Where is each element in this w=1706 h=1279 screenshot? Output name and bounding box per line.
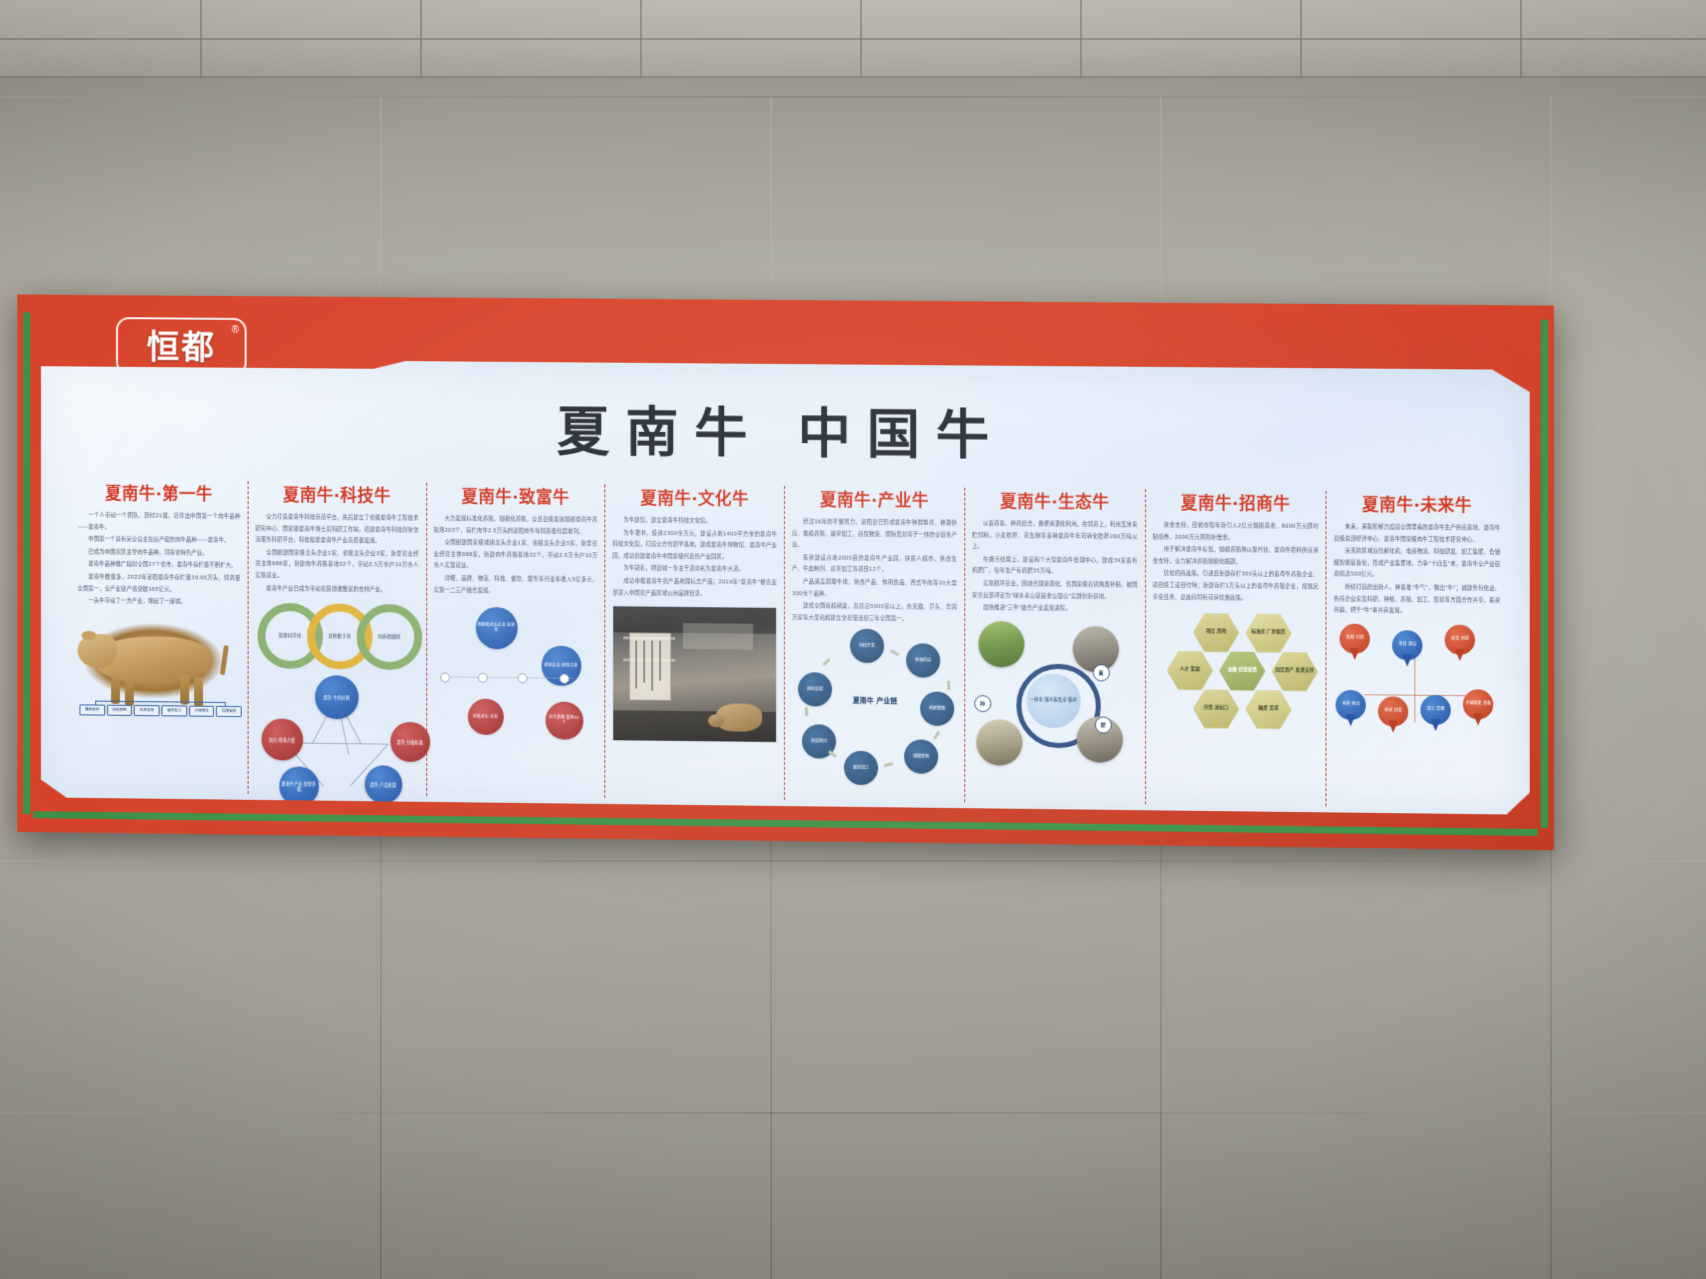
flow-node: 省级龙头 企业 xyxy=(467,699,503,735)
eco-photo-grass xyxy=(978,621,1024,668)
pin-marker: 招商 引资 xyxy=(1340,623,1370,661)
hex-cell: 标准化 厂房租赁 xyxy=(1245,613,1291,654)
pin-marker: 加工 集聚 xyxy=(1421,695,1451,734)
chain-node: 国际贸易 xyxy=(798,673,832,707)
hex-cell: 融资 需求 xyxy=(1245,689,1291,730)
pentagon-node: 加大 研发力度 xyxy=(261,719,303,761)
tag-item: 品牌营销 xyxy=(216,706,241,717)
pentagon-node: 提升 分级标准 xyxy=(390,722,430,762)
pin-marker: 项目 建设 xyxy=(1392,630,1422,669)
flow-node: 肉牛养殖 基地32个 xyxy=(545,702,583,740)
hex-cell: 固定资产 投资支持 xyxy=(1271,651,1317,692)
column-body: 全力打造夏南牛科技示范平台，先后建立了省级夏南牛工程技术研究中心、国家级夏南牛博… xyxy=(255,512,418,596)
column-technology-cow: 夏南牛·科技牛 全力打造夏南牛科技示范平台，先后建立了省级夏南牛工程技术研究中心… xyxy=(247,481,425,796)
hex-cell: 人才 奖励 xyxy=(1167,650,1213,691)
chain-node: 种群繁繁 xyxy=(920,692,954,726)
pin-marker: 仓储智能 装备 xyxy=(1463,689,1493,728)
ring-label: 管理科学化 xyxy=(279,633,302,639)
chain-node: 屠宰加工 xyxy=(844,751,878,785)
column-heading: 夏南牛·文化牛 xyxy=(613,485,777,510)
column-body: 资金支持，目前在程年新引入2亿元规模基金、6000万元即时贴债券、2000万元风… xyxy=(1153,520,1319,605)
pentagon-diagram: 提升 牛肉分割 提升 分级标准 提升 产品质量 夏南牛产业 转型升级 加大 研发… xyxy=(255,653,418,796)
ceiling xyxy=(0,0,1706,78)
column-body: 为牛建馆，建立夏南牛科技文化馆。 为牛著书，投资2300余万元，建设占地1400… xyxy=(613,515,777,601)
column-first-cow: 夏南牛·第一牛 一个人带动一个团队，历时21载，培育出中国第一个肉牛品种——夏南… xyxy=(71,480,248,794)
chain-center-label: 夏南牛 产业链 xyxy=(840,697,910,707)
tag-item: 生态牧场 xyxy=(134,705,159,716)
tag-item: 繁殖育种 xyxy=(79,704,104,715)
chain-node: 科研开发 xyxy=(850,629,884,663)
green-accent-left xyxy=(23,312,30,814)
eco-circle-diagram: 一体化 循环畜牧业 循环 畜 肥 种 xyxy=(972,619,1138,781)
column-heading: 夏南牛·生态牛 xyxy=(972,488,1138,514)
bull-photo: 繁殖育种 规模养殖 生态牧场 屠宰加工 冷链物流 品牌营销 xyxy=(77,614,240,719)
tag-item: 屠宰加工 xyxy=(162,705,187,716)
pin-markers-diagram: 招商 引资 项目 建设 研发 创新 xyxy=(1334,623,1501,776)
content-field: 夏南牛 中国牛 夏南牛·第一牛 一个人带动一个团队，历时21载，培育出中国第一个… xyxy=(41,358,1530,815)
column-investment-cow: 夏南牛·招商牛 资金支持，目前在程年新引入2亿元规模基金、6000万元即时贴债券… xyxy=(1145,489,1326,806)
pentagon-node: 提升 产品质量 xyxy=(364,766,402,804)
column-culture-cow: 夏南牛·文化牛 为牛建馆，建立夏南牛科技文化馆。 为牛著书，投资2300余万元，… xyxy=(605,484,784,800)
eco-badge: 种 xyxy=(974,695,991,712)
column-body: 未来，采取阶梯力度适全国里看的夏南牛生产供应基地、夏南牛县级总部经济中心、夏南牛… xyxy=(1334,522,1501,619)
tag-bar: 繁殖育种 规模养殖 生态牧场 屠宰加工 冷链物流 品牌营销 xyxy=(79,704,241,717)
pentagon-node: 提升 牛肉分割 xyxy=(315,675,359,719)
flow-node: 国家级龙头企业 标准化 xyxy=(475,607,517,649)
ring-label: 饲养精细化 xyxy=(378,634,401,640)
pin-marker: 科技 研发 xyxy=(1378,696,1408,735)
exhibition-board: 恒都 ® 夏南牛 中国牛 夏南牛·第一牛 一个人带动一个团队，历时21载，培育出… xyxy=(17,294,1554,850)
column-future-cow: 夏南牛·未来牛 未来，采取阶梯力度适全国里看的夏南牛生产供应基地、夏南牛县级总部… xyxy=(1326,491,1508,809)
pin-marker: 电商 物流 xyxy=(1336,690,1366,729)
hexagon-grid: 项目 用地 标准化 厂房租赁 人才 奖励 金融 优惠政策 固定资产 投资支持 外… xyxy=(1153,610,1319,762)
hex-cell: 金融 优惠政策 xyxy=(1219,651,1265,692)
green-accent-bottom xyxy=(33,811,1538,836)
exhibition-hall-photo xyxy=(613,606,777,744)
page-title: 夏南牛 中国牛 xyxy=(41,386,1530,474)
column-industry-cow: 夏南牛·产业牛 经过16年的不懈努力，泌阳县已形成夏南牛种群繁育、种源供应、规模… xyxy=(784,486,964,802)
columns-container: 夏南牛·第一牛 一个人带动一个团队，历时21载，培育出中国第一个肉牛品种——夏南… xyxy=(71,480,1508,809)
brand-logo-text: 恒都 xyxy=(147,330,216,363)
column-heading: 夏南牛·科技牛 xyxy=(255,481,418,506)
column-heading: 夏南牛·产业牛 xyxy=(792,486,957,511)
column-body: 经过16年的不懈努力，泌阳县已形成夏南牛种群繁育、种源供应、规模养殖、屠宰加工、… xyxy=(792,517,957,626)
pin-marker: 研发 创新 xyxy=(1445,625,1475,664)
room-background: 恒都 ® 夏南牛 中国牛 夏南牛·第一牛 一个人带动一个团队，历时21载，培育出… xyxy=(0,0,1706,1279)
chain-node: 种源供应 xyxy=(906,644,940,678)
column-heading: 夏南牛·未来牛 xyxy=(1334,491,1501,517)
eco-center-label: 一体化 循环畜牧业 循环 xyxy=(1026,673,1080,728)
column-body: 一个人带动一个团队，历时21载，培育出中国第一个肉牛品种——夏南牛。 中国第一个… xyxy=(77,511,240,610)
pentagon-node: 夏南牛产业 转型升级 xyxy=(279,767,319,807)
green-accent-right xyxy=(1541,320,1548,828)
eco-badge: 畜 xyxy=(1093,664,1110,681)
hex-cell: 外贸 进出口 xyxy=(1193,689,1239,730)
hex-cell: 项目 用地 xyxy=(1193,612,1239,653)
column-body: 大力发展标准化养殖、规模化养殖，全县县级发展规模夏南牛养殖场203个，存栏肉牛2… xyxy=(434,514,598,599)
eco-photo-feed xyxy=(976,719,1022,766)
tag-item: 冷链物流 xyxy=(189,705,214,716)
flow-diagram: 国家级龙头企业 标准化 新型农业 经营主体 省级龙头 企业 肉牛养殖 基地32个 xyxy=(434,601,598,752)
column-ecology-cow: 夏南牛·生态牛 以畜养畜、种养结合，粪便资源化利用。在饲养上，利用玉米青贮饲料，… xyxy=(964,488,1145,805)
chain-node: 规模养殖 xyxy=(904,740,938,774)
rings-diagram: 管理科学化 育种数字化 饲养精细化 xyxy=(255,603,418,648)
column-prosperity-cow: 夏南牛·致富牛 大力发展标准化养殖、规模化养殖，全县县级发展规模夏南牛养殖场20… xyxy=(426,483,605,798)
industry-chain-diagram: 夏南牛 产业链 科研开发 种源供应 种群繁繁 规模养殖 屠宰加工 商贸物流 国际… xyxy=(792,629,957,787)
column-heading: 夏南牛·招商牛 xyxy=(1153,489,1319,515)
eco-badge: 肥 xyxy=(1095,716,1112,733)
column-body: 以畜养畜、种养结合，粪便资源化利用。在饲养上，利用玉米青贮饲料，小麦秸秆、花生秧… xyxy=(972,519,1138,617)
ring-label: 育种数字化 xyxy=(328,634,351,640)
registered-mark-icon: ® xyxy=(231,325,238,336)
tag-item: 规模养殖 xyxy=(107,705,132,716)
column-heading: 夏南牛·致富牛 xyxy=(434,483,598,508)
column-heading: 夏南牛·第一牛 xyxy=(77,480,240,505)
